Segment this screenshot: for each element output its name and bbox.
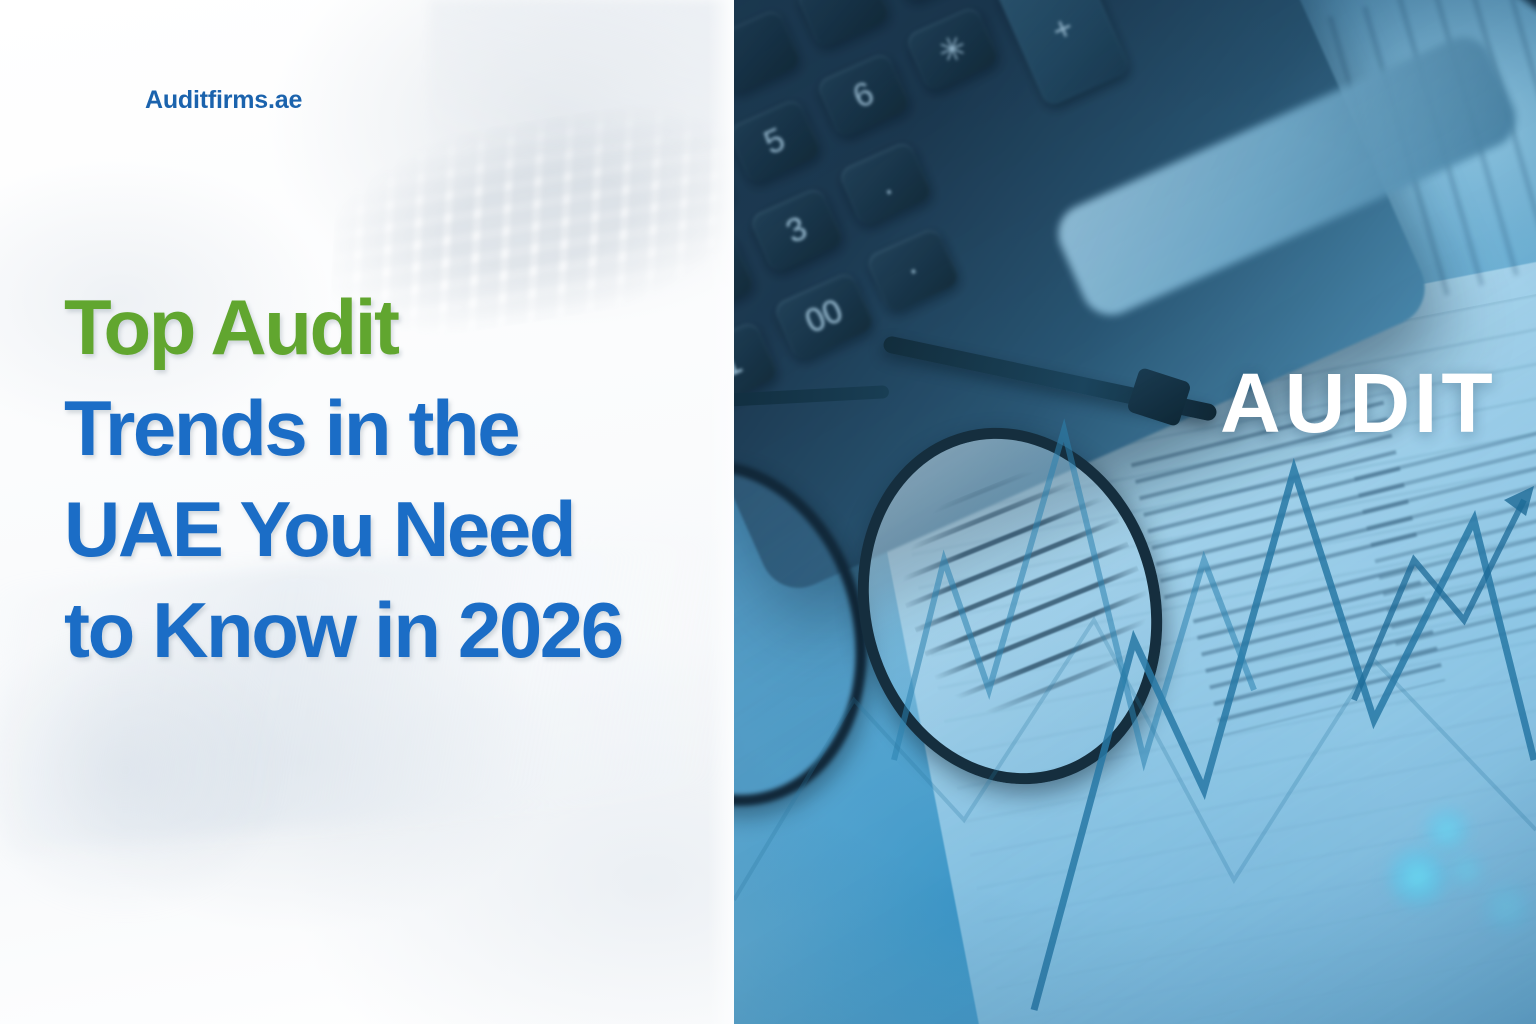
blog-banner: Auditfirms.ae Top Audit Trends in the UA… [0, 0, 1536, 1024]
headline-line-2: Trends in the [64, 389, 704, 467]
left-content-panel: Auditfirms.ae Top Audit Trends in the UA… [0, 0, 734, 1024]
site-logo[interactable]: Auditfirms.ae [145, 86, 302, 115]
headline-line-1: Top Audit [64, 288, 704, 366]
photo-vignette [734, 0, 1536, 1024]
hero-image-panel: 4 5 6 ✳ + 1 3 . 1 00 · [734, 0, 1536, 1024]
panel-edge-fade [708, 0, 734, 1024]
headline-line-3: UAE You Need [64, 490, 704, 568]
headline-line-4: to Know in 2026 [64, 591, 704, 669]
audit-overlay-word: AUDIT [1220, 355, 1497, 452]
page-title: Top Audit Trends in the UAE You Need to … [64, 288, 704, 669]
